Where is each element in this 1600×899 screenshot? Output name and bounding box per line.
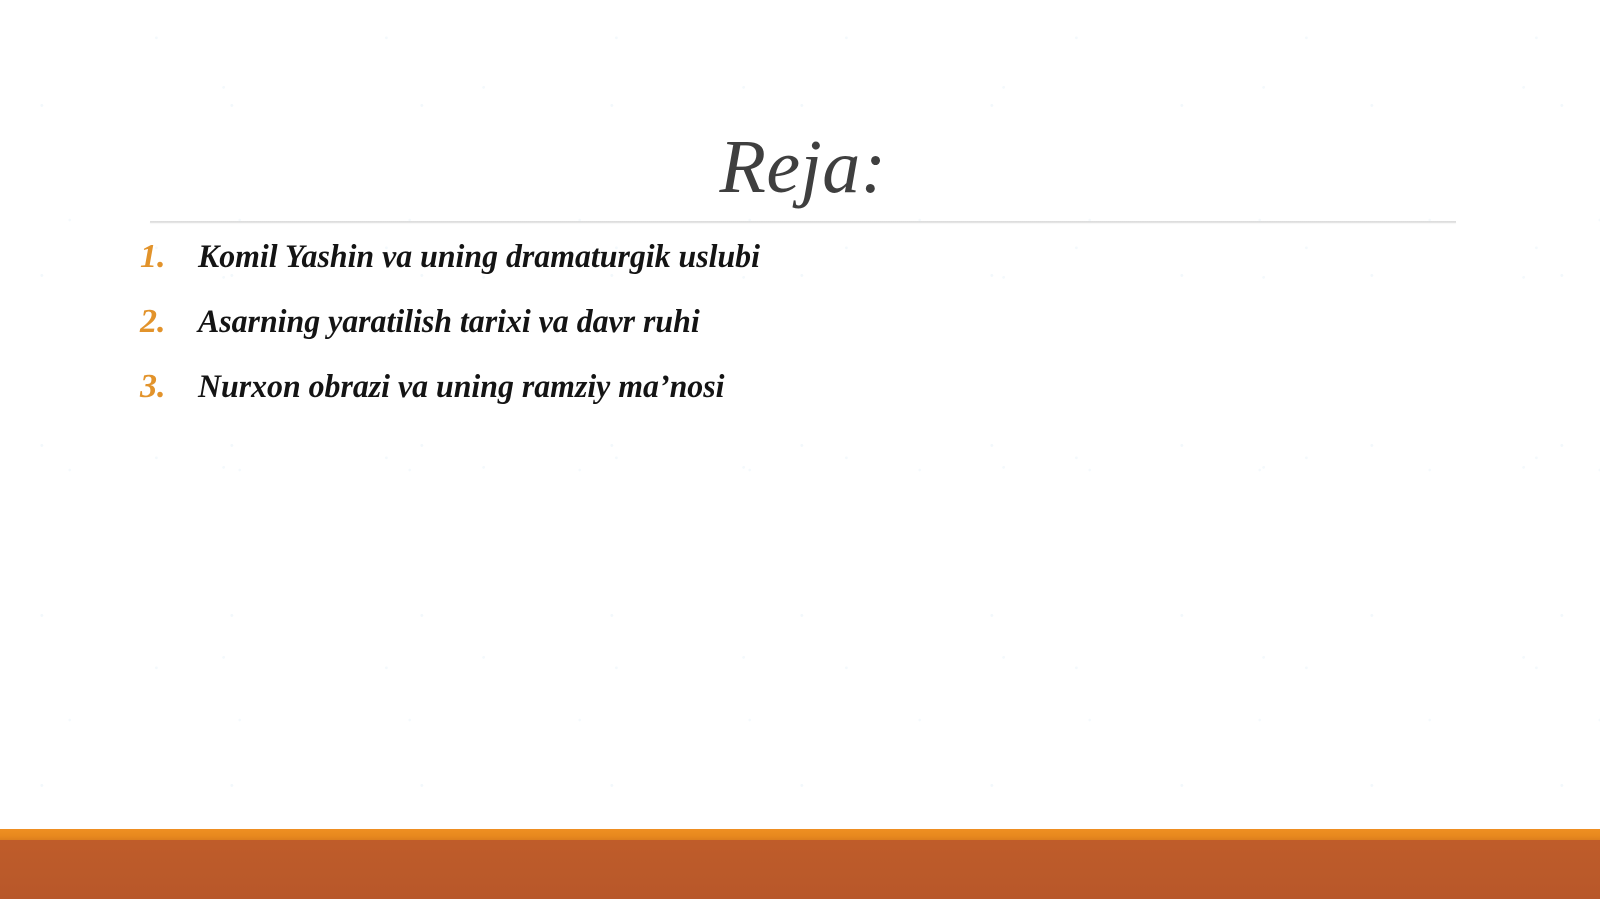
list-item-label: Komil Yashin va uning dramaturgik uslubi	[198, 241, 760, 274]
list-item-label: Nurxon obrazi va uning ramziy ma’nosi	[198, 371, 724, 404]
footer-accent-strip	[0, 829, 1600, 840]
list-item-number: 3.	[140, 370, 198, 404]
title-block: Reja:	[150, 128, 1456, 207]
list-item-number: 2.	[140, 305, 198, 339]
list-item: 3. Nurxon obrazi va uning ramziy ma’nosi	[140, 370, 1460, 435]
footer-bar	[0, 840, 1600, 899]
list-item-number: 1.	[140, 240, 198, 274]
list-item-label: Asarning yaratilish tarixi va davr ruhi	[198, 306, 700, 339]
slide-canvas: Reja: 1. Komil Yashin va uning dramaturg…	[0, 0, 1600, 899]
page-title: Reja:	[150, 128, 1456, 207]
list-item: 2. Asarning yaratilish tarixi va davr ru…	[140, 305, 1460, 370]
list-item: 1. Komil Yashin va uning dramaturgik usl…	[140, 240, 1460, 305]
title-divider	[150, 221, 1456, 223]
reja-list: 1. Komil Yashin va uning dramaturgik usl…	[140, 240, 1460, 435]
